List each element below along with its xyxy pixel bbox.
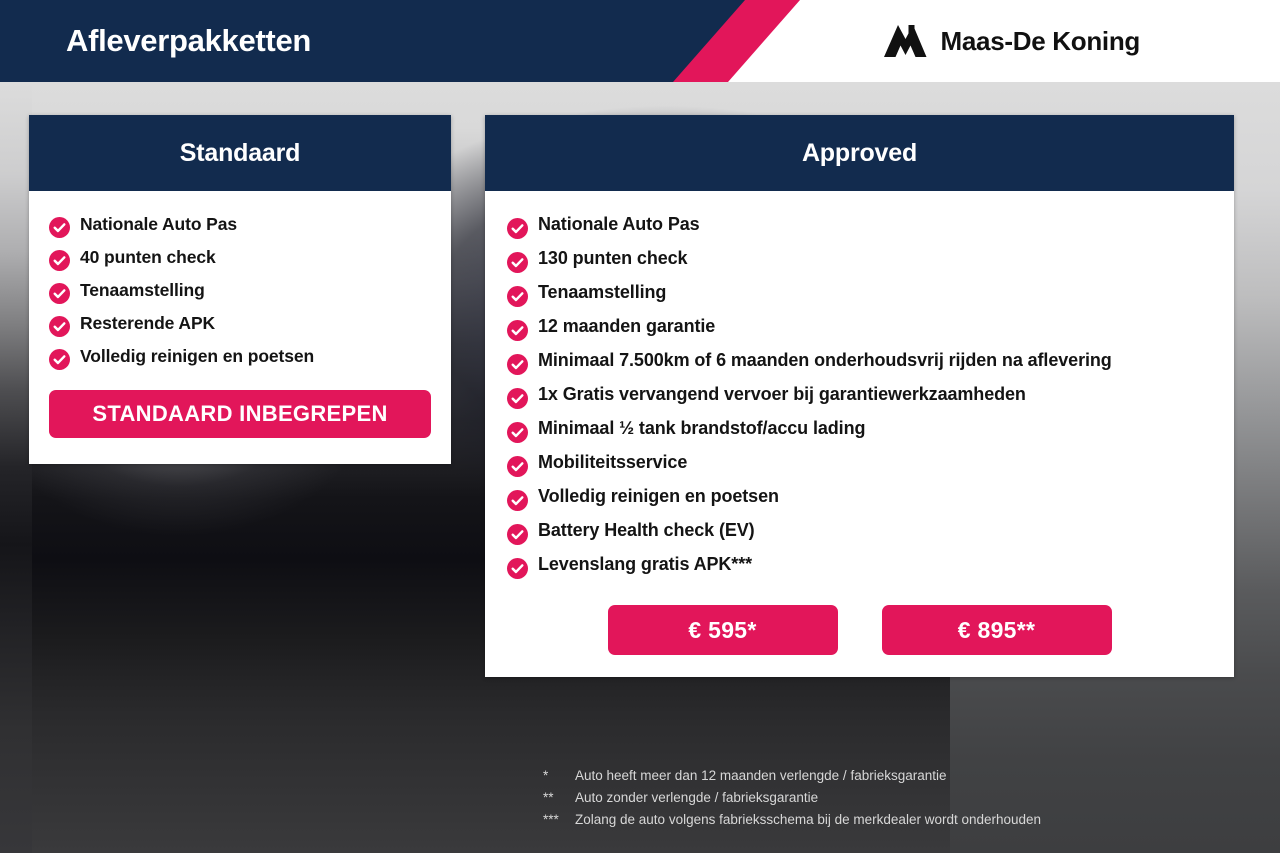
feature-label: 40 punten check xyxy=(80,246,216,269)
check-circle-icon xyxy=(507,388,528,409)
check-circle-icon xyxy=(49,217,70,238)
m-monogram-icon xyxy=(883,24,927,58)
feature-label: Levenslang gratis APK*** xyxy=(538,553,752,577)
check-circle-icon xyxy=(49,316,70,337)
feature-label: 1x Gratis vervangend vervoer bij garanti… xyxy=(538,383,1026,407)
list-item: Minimaal 7.500km of 6 maanden onderhouds… xyxy=(507,349,1212,375)
footnote-2: ** Auto zonder verlengde / fabrieksgaran… xyxy=(543,787,1243,809)
check-circle-icon xyxy=(507,422,528,443)
feature-label: Tenaamstelling xyxy=(80,279,205,302)
list-item: Tenaamstelling xyxy=(49,279,431,304)
card-header-standaard: Standaard xyxy=(29,115,451,191)
check-circle-icon xyxy=(49,349,70,370)
brand-name: Maas-De Koning xyxy=(941,26,1140,57)
list-item: Nationale Auto Pas xyxy=(49,213,431,238)
check-circle-icon xyxy=(507,558,528,579)
list-item: Battery Health check (EV) xyxy=(507,519,1212,545)
list-item: Resterende APK xyxy=(49,312,431,337)
card-header-approved: Approved xyxy=(485,115,1234,191)
footnote-marker: *** xyxy=(543,809,575,831)
standaard-included-button[interactable]: STANDAARD INBEGREPEN xyxy=(49,390,431,438)
check-circle-icon xyxy=(507,490,528,511)
footnote-3: *** Zolang de auto volgens fabrieksschem… xyxy=(543,809,1243,831)
check-circle-icon xyxy=(507,456,528,477)
list-item: Mobiliteitsservice xyxy=(507,451,1212,477)
feature-label: 12 maanden garantie xyxy=(538,315,715,339)
feature-label: Tenaamstelling xyxy=(538,281,666,305)
package-card-standaard: Standaard Nationale Auto Pas xyxy=(29,115,451,464)
brand-logo: Maas-De Koning xyxy=(883,0,1140,82)
card-body-standaard: Nationale Auto Pas 40 punten check xyxy=(29,191,451,438)
list-item: 1x Gratis vervangend vervoer bij garanti… xyxy=(507,383,1212,409)
card-title-standaard: Standaard xyxy=(180,139,300,168)
background-left-gradient xyxy=(0,82,32,853)
feature-label: Battery Health check (EV) xyxy=(538,519,755,543)
page-title: Afleverpakketten xyxy=(66,0,311,82)
feature-label: Volledig reinigen en poetsen xyxy=(80,345,314,368)
check-circle-icon xyxy=(49,250,70,271)
feature-label: Resterende APK xyxy=(80,312,215,335)
delivery-packages-page: Afleverpakketten Maas-De Koning Standaar… xyxy=(0,0,1280,853)
feature-label: 130 punten check xyxy=(538,247,687,271)
list-item: Volledig reinigen en poetsen xyxy=(507,485,1212,511)
list-item: 40 punten check xyxy=(49,246,431,271)
list-item: Nationale Auto Pas xyxy=(507,213,1212,239)
price-button-895[interactable]: € 895** xyxy=(882,605,1112,655)
footnote-1: * Auto heeft meer dan 12 maanden verleng… xyxy=(543,765,1243,787)
footnotes: * Auto heeft meer dan 12 maanden verleng… xyxy=(543,765,1243,831)
check-circle-icon xyxy=(507,218,528,239)
list-item: Minimaal ½ tank brandstof/accu lading xyxy=(507,417,1212,443)
page-header: Afleverpakketten Maas-De Koning xyxy=(0,0,1280,82)
footnote-marker: ** xyxy=(543,787,575,809)
feature-label: Nationale Auto Pas xyxy=(538,213,700,237)
package-card-approved: Approved Nationale Auto Pas xyxy=(485,115,1234,677)
check-circle-icon xyxy=(507,320,528,341)
feature-list-approved: Nationale Auto Pas 130 punten check xyxy=(507,213,1212,579)
check-circle-icon xyxy=(49,283,70,304)
price-button-595[interactable]: € 595* xyxy=(608,605,838,655)
feature-label: Volledig reinigen en poetsen xyxy=(538,485,779,509)
footnote-text: Auto zonder verlengde / fabrieksgarantie xyxy=(575,787,818,809)
check-circle-icon xyxy=(507,252,528,273)
list-item: 12 maanden garantie xyxy=(507,315,1212,341)
list-item: Tenaamstelling xyxy=(507,281,1212,307)
footnote-text: Zolang de auto volgens fabrieksschema bi… xyxy=(575,809,1041,831)
feature-list-standaard: Nationale Auto Pas 40 punten check xyxy=(49,213,431,370)
check-circle-icon xyxy=(507,524,528,545)
footnote-marker: * xyxy=(543,765,575,787)
card-body-approved: Nationale Auto Pas 130 punten check xyxy=(485,191,1234,655)
card-title-approved: Approved xyxy=(802,139,917,168)
feature-label: Minimaal ½ tank brandstof/accu lading xyxy=(538,417,865,441)
price-buttons-row: € 595* € 895** xyxy=(507,605,1212,655)
feature-label: Minimaal 7.500km of 6 maanden onderhouds… xyxy=(538,349,1112,373)
check-circle-icon xyxy=(507,286,528,307)
footnote-text: Auto heeft meer dan 12 maanden verlengde… xyxy=(575,765,947,787)
list-item: Volledig reinigen en poetsen xyxy=(49,345,431,370)
list-item: 130 punten check xyxy=(507,247,1212,273)
list-item: Levenslang gratis APK*** xyxy=(507,553,1212,579)
feature-label: Nationale Auto Pas xyxy=(80,213,237,236)
check-circle-icon xyxy=(507,354,528,375)
feature-label: Mobiliteitsservice xyxy=(538,451,687,475)
